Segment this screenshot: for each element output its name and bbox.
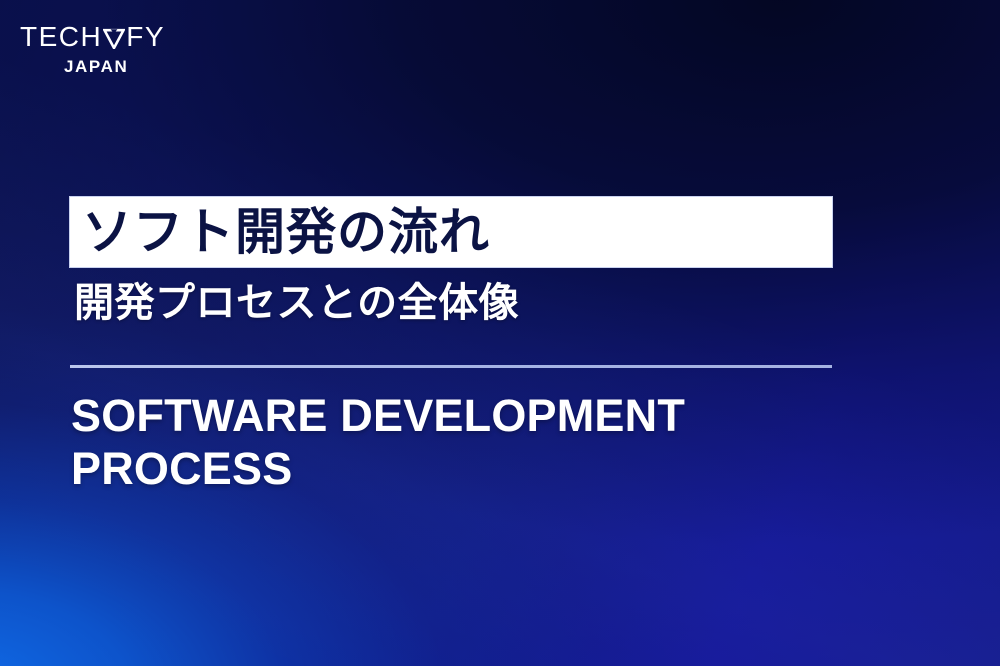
background-sheen [0, 0, 1000, 666]
horizontal-divider [70, 365, 832, 368]
page-subtitle: 開発プロセスとの全体像 [74, 283, 519, 323]
brand-logo-text-first: TECH [20, 23, 102, 51]
title-highlight-box: ソフト開発の流れ [69, 196, 833, 268]
english-heading: SOFTWARE DEVELOPMENT PROCESS [71, 389, 871, 495]
english-heading-line-2: PROCESS [71, 442, 871, 495]
page-title: ソフト開発の流れ [70, 207, 490, 257]
english-heading-line-1: SOFTWARE DEVELOPMENT [71, 389, 871, 442]
brand-logo-text-second: FY [126, 23, 165, 51]
brand-logo-subtitle: JAPAN [20, 57, 220, 77]
brand-logo-wordmark: TECH FY [20, 22, 220, 52]
brand-logo[interactable]: TECH FY JAPAN [20, 22, 220, 77]
downward-triangle-icon [103, 28, 125, 49]
title-slide: TECH FY JAPAN ソフト開発の流れ 開発プロセスとの全体像 SOFTW… [0, 0, 1000, 666]
